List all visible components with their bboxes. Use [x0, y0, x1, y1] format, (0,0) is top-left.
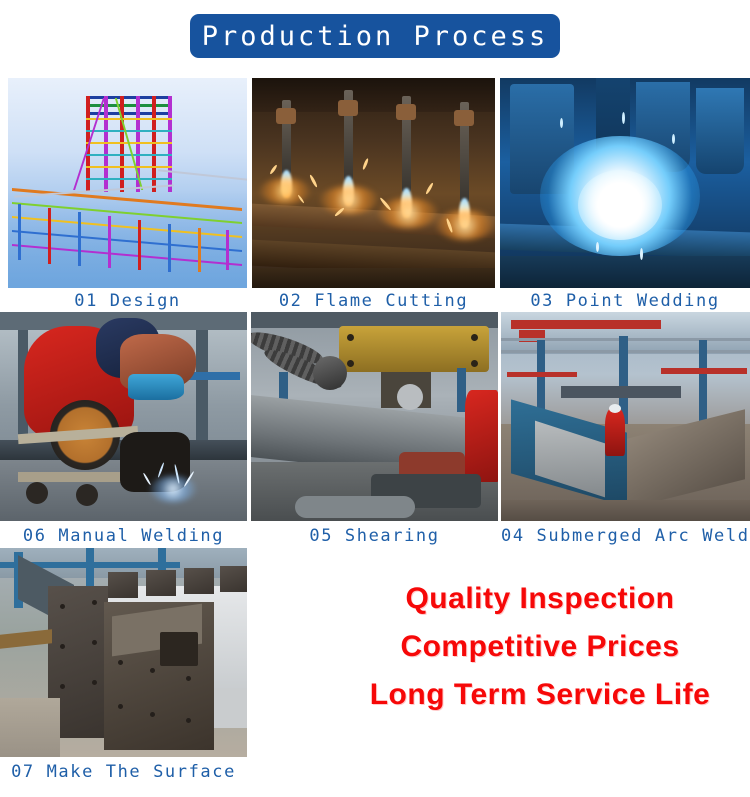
- cad-structural-model-image: [8, 78, 247, 288]
- process-image-05-shearing: [251, 312, 498, 521]
- point-welding-arc-image: [500, 78, 750, 288]
- promo-line-2: Competitive Prices: [330, 623, 750, 671]
- process-image-07-make-the-surface: [0, 548, 247, 757]
- promo-line-3: Long Term Service Life: [330, 671, 750, 719]
- caption-02: 02 Flame Cutting: [252, 291, 495, 311]
- process-image-02-flame-cutting: [252, 78, 495, 288]
- surface-finishing-panels-image: [0, 548, 247, 757]
- page-title: Production Process: [202, 21, 549, 52]
- shearing-machine-image: [251, 312, 498, 521]
- promo-line-1: Quality Inspection: [330, 575, 750, 623]
- caption-03: 03 Point Wedding: [500, 291, 750, 311]
- caption-01: 01 Design: [8, 291, 247, 311]
- process-image-06-manual-welding: [0, 312, 247, 521]
- process-image-01-design: [8, 78, 247, 288]
- caption-04: 04 Submerged Arc Welding: [501, 526, 750, 546]
- header: Production Process: [0, 0, 750, 72]
- title-banner: Production Process: [190, 14, 560, 58]
- production-process-poster: Production Process: [0, 0, 750, 797]
- process-image-04-submerged-arc-welding: [501, 312, 750, 521]
- submerged-arc-welding-workshop-image: [501, 312, 750, 521]
- caption-05: 05 Shearing: [251, 526, 498, 546]
- caption-06: 06 Manual Welding: [0, 526, 247, 546]
- promo-text-block: Quality Inspection Competitive Prices Lo…: [330, 575, 750, 719]
- flame-cutting-torches-image: [252, 78, 495, 288]
- process-image-03-point-welding: [500, 78, 750, 288]
- caption-07: 07 Make The Surface: [0, 762, 247, 782]
- manual-welding-worker-image: [0, 312, 247, 521]
